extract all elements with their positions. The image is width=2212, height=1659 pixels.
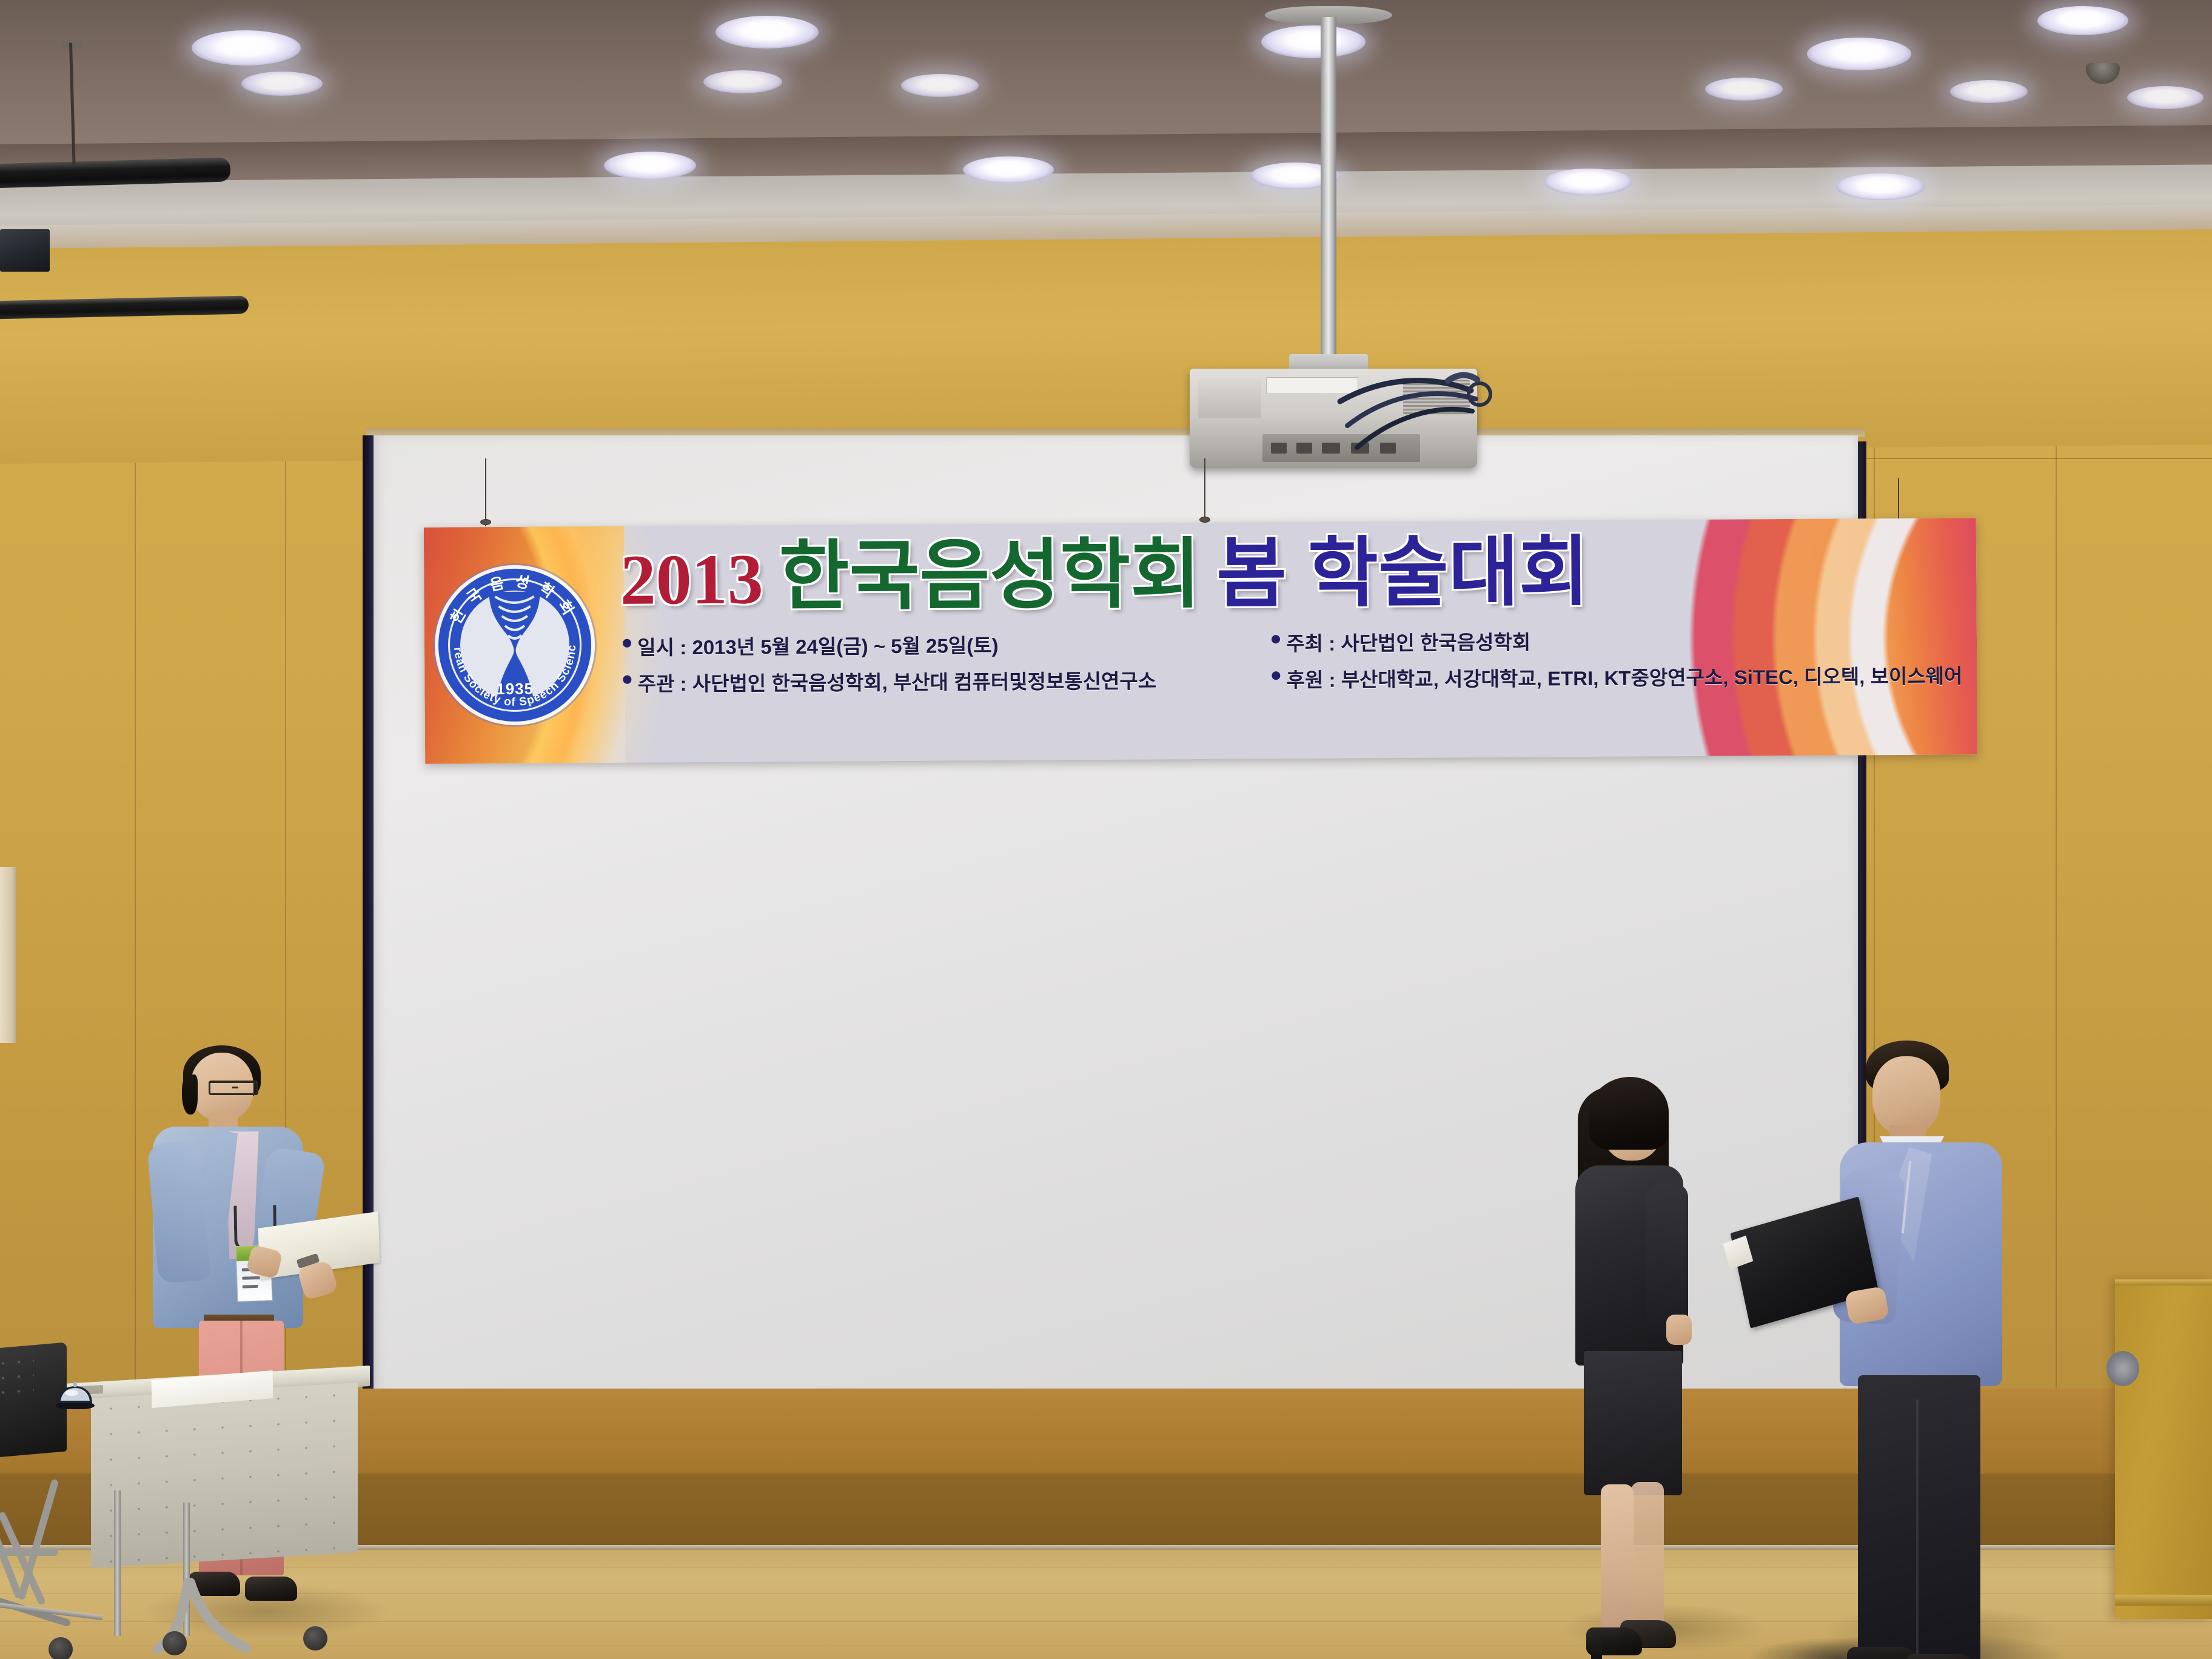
projector-mount-pole <box>1321 17 1336 363</box>
mc-glasses-icon <box>209 1081 258 1095</box>
bullet-icon <box>623 675 632 684</box>
bullet-icon <box>1272 671 1281 680</box>
awardee-skirt <box>1584 1351 1682 1495</box>
person-award-recipient <box>1578 1077 1735 1623</box>
awardee-shoe-back <box>1620 1620 1676 1648</box>
ceiling-light <box>2037 6 2128 35</box>
podium-base-trim <box>2115 1595 2212 1606</box>
ceiling-light <box>703 70 782 93</box>
projector-lens-cover <box>1198 378 1261 418</box>
banner-society: 한국음성학회 <box>779 536 1201 615</box>
table-base-frame <box>91 1577 370 1659</box>
ceiling-light <box>241 72 323 96</box>
ceiling-light <box>1261 25 1366 58</box>
banner-detail-organizer: 주관 : 사단법인 한국음성학회, 부산대 컴퓨터및정보통신연구소 <box>623 664 1272 697</box>
presenter-trousers <box>1858 1375 1980 1659</box>
chair-perforations <box>0 1353 34 1407</box>
ceiling-light <box>1544 169 1632 195</box>
logo-circular-text: 한국음성학회 Korean Society of Speech Sciences <box>438 568 592 722</box>
person-award-presenter <box>1849 1041 2031 1623</box>
banner-hook <box>1199 517 1210 523</box>
presenter-head <box>1872 1056 1940 1135</box>
banner-logo-area: 한국음성학회 Korean Society of Speech Sciences… <box>424 526 606 764</box>
wooden-podium <box>2115 1279 2212 1619</box>
ceiling-light <box>1950 80 2028 103</box>
folding-table-apron <box>91 1382 358 1568</box>
awardee-heel-spike <box>1591 1641 1602 1659</box>
banner-year: 2013 <box>620 543 763 615</box>
ceiling-light <box>192 30 301 65</box>
ceiling-light <box>963 156 1054 183</box>
mc-hair-sideburn <box>182 1074 198 1114</box>
table-caster <box>49 1637 73 1659</box>
stacking-chair <box>0 1346 73 1528</box>
conference-banner: 한국음성학회 Korean Society of Speech Sciences… <box>424 518 1977 764</box>
logo-korean-text: 한국음성학회 <box>447 572 581 627</box>
wall-speaker <box>0 229 50 272</box>
bullet-icon <box>623 639 631 648</box>
auditorium-scene: 한국음성학회 Korean Society of Speech Sciences… <box>0 0 2212 1659</box>
bullet-icon <box>1272 635 1280 643</box>
ceiling-light <box>1705 78 1783 101</box>
banner-text-area: 2013 한국음성학회 봄 학술대회 일시 : 2013년 5월 24일(금) … <box>604 518 1977 763</box>
banner-detail-block: 일시 : 2013년 5월 24일(금) ~ 5월 25일(토) 주관 : 사단… <box>623 623 1962 697</box>
banner-detail-date: 일시 : 2013년 5월 24일(금) ~ 5월 25일(토) <box>623 628 1272 661</box>
table-caster <box>303 1626 327 1651</box>
banner-hanging-wire <box>1204 458 1205 525</box>
banner-hook <box>480 519 491 525</box>
podium-top-lip <box>2115 1279 2212 1285</box>
ceiling-light <box>901 74 979 97</box>
awardee-hand <box>1666 1315 1692 1345</box>
ceiling-light <box>1807 38 1911 70</box>
awardee-hair-front <box>1589 1077 1669 1150</box>
ceiling-light <box>1836 173 1925 200</box>
banner-event: 봄 학술대회 <box>1216 534 1589 612</box>
awardee-arm <box>1646 1184 1688 1335</box>
ceiling-light <box>604 152 696 179</box>
projector-cables <box>1328 359 1504 474</box>
banner-detail-host: 주최 : 사단법인 한국음성학회 <box>1272 623 1962 657</box>
banner-detail-sponsors: 후원 : 부산대학교, 서강대학교, ETRI, KT중앙연구소, SiTEC,… <box>1272 660 1963 693</box>
call-bell-icon <box>53 1381 97 1409</box>
society-logo-icon: 한국음성학회 Korean Society of Speech Sciences… <box>438 568 592 722</box>
wall-trim-strip <box>0 867 16 1043</box>
table-caster <box>163 1631 187 1655</box>
podium-emblem <box>2106 1351 2139 1386</box>
ceiling-light <box>716 16 819 49</box>
banner-hanging-wire <box>485 458 486 526</box>
svg-text:한국음성학회: 한국음성학회 <box>447 572 581 627</box>
banner-title: 2013 한국음성학회 봄 학술대회 <box>620 531 1962 616</box>
table-perforations <box>91 1382 358 1568</box>
ceiling-light <box>2127 86 2204 109</box>
